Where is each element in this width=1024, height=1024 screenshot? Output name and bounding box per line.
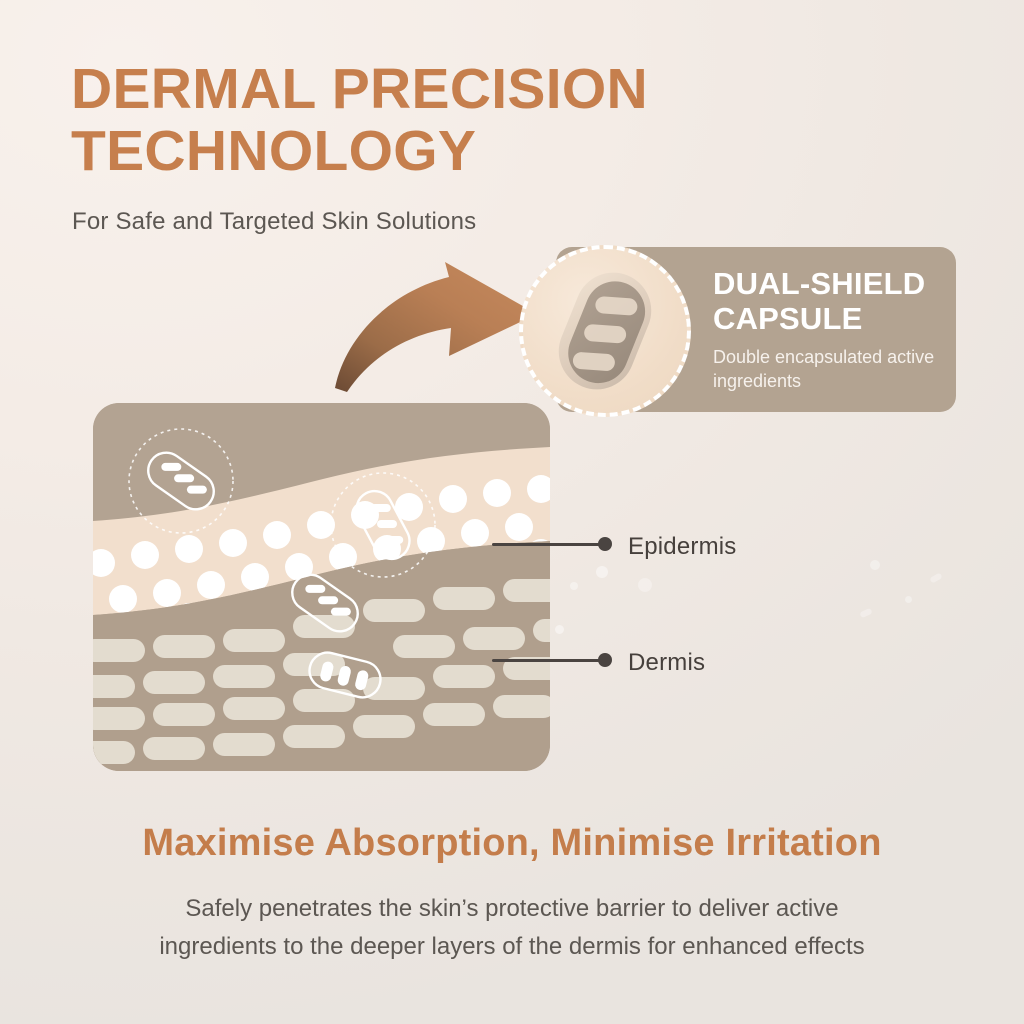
footer-tagline: Maximise Absorption, Minimise Irritation bbox=[0, 822, 1024, 865]
capsule-bubble bbox=[519, 245, 691, 417]
footer-body-line-2: ingredients to the deeper layers of the … bbox=[159, 933, 864, 960]
page-title: DERMAL PRECISION TECHNOLOGY bbox=[71, 58, 771, 182]
footer-body: Safely penetrates the skin’s protective … bbox=[128, 890, 896, 966]
label-dermis: Dermis bbox=[628, 649, 705, 677]
sparkle-dot bbox=[570, 582, 578, 590]
leader-line-dermis bbox=[492, 659, 602, 662]
callout-description: Double encapsulated active ingredients bbox=[713, 345, 943, 393]
leader-dot-dermis bbox=[598, 653, 612, 667]
sparkle-dot bbox=[638, 578, 652, 592]
sparkle-dash bbox=[929, 572, 942, 583]
callout-title: DUAL-SHIELD CAPSULE bbox=[713, 266, 963, 336]
leader-dot-epidermis bbox=[598, 537, 612, 551]
capsule-icon bbox=[523, 249, 687, 413]
sparkle-dot bbox=[905, 596, 912, 603]
sparkle-dot bbox=[555, 625, 564, 634]
footer-body-line-1: Safely penetrates the skin’s protective … bbox=[185, 895, 838, 922]
sparkle-dash bbox=[859, 608, 872, 619]
sparkle-dot bbox=[596, 566, 608, 578]
sparkle-dot bbox=[870, 560, 880, 570]
label-epidermis: Epidermis bbox=[628, 533, 737, 561]
infographic-canvas: DERMAL PRECISION TECHNOLOGY For Safe and… bbox=[0, 0, 1024, 1024]
page-subtitle: For Safe and Targeted Skin Solutions bbox=[72, 208, 476, 236]
leader-line-epidermis bbox=[492, 543, 602, 546]
skin-cross-section-diagram bbox=[93, 403, 550, 771]
